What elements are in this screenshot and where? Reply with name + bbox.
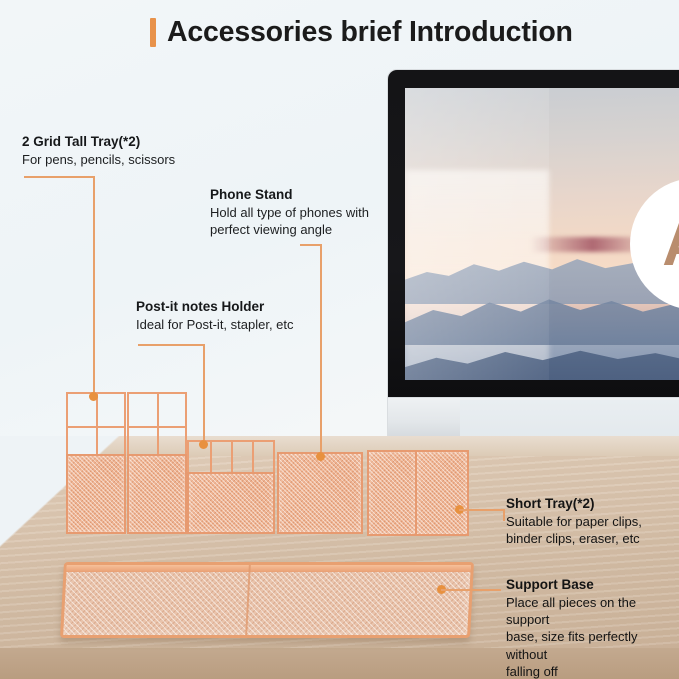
page-title: Accessories brief Introduction [150, 16, 573, 49]
product-short-tray-1 [367, 450, 417, 536]
callout-support-base-title: Support Base [506, 576, 679, 594]
tall-tray-2-mesh-body [127, 454, 187, 534]
page-title-text: Accessories brief Introduction [167, 16, 573, 49]
callout-phone-stand: Phone Stand Hold all type of phones with… [210, 186, 420, 238]
anchor-dot-tall-tray [89, 392, 98, 401]
tall-tray-2-upper-grid [127, 392, 187, 460]
leader-short-tray-v [503, 509, 505, 521]
leader-postit-h [138, 344, 204, 346]
title-accent-bar [150, 18, 156, 47]
product-support-base [60, 562, 474, 638]
callout-tall-tray-desc: For pens, pencils, scissors [22, 151, 272, 168]
brand-monogram: AU [662, 209, 679, 280]
leader-postit-v [203, 344, 205, 444]
callout-short-tray: Short Tray(*2) Suitable for paper clips,… [506, 495, 679, 547]
leader-tall-tray-v [93, 176, 95, 395]
leader-phone-stand-v [320, 244, 322, 456]
product-infographic: Accessories brief Introduction AU  [0, 0, 679, 679]
imac-monitor: AU  [388, 70, 679, 410]
product-short-tray-2 [415, 450, 469, 536]
callout-tall-tray-title: 2 Grid Tall Tray(*2) [22, 133, 272, 151]
support-base-rim [66, 565, 470, 572]
callout-short-tray-title: Short Tray(*2) [506, 495, 679, 513]
postit-holder-body [187, 472, 275, 534]
leader-support-base-h [441, 589, 501, 591]
screen-glare [405, 88, 549, 380]
callout-support-base: Support Base Place all pieces on the sup… [506, 576, 679, 679]
callout-support-base-desc-line3: falling off [506, 663, 679, 679]
tall-tray-1-upper-grid [66, 392, 126, 460]
anchor-dot-postit [199, 440, 208, 449]
tall-tray-1-mesh-body [66, 454, 126, 534]
anchor-dot-phone-stand [316, 452, 325, 461]
leader-phone-stand-h [300, 244, 322, 246]
callout-short-tray-desc-line2: binder clips, eraser, etc [506, 530, 679, 547]
callout-phone-stand-title: Phone Stand [210, 186, 420, 204]
product-tall-tray-2 [127, 392, 183, 530]
callout-short-tray-desc-line1: Suitable for paper clips, [506, 513, 679, 530]
callout-postit-holder: Post-it notes Holder Ideal for Post-it, … [136, 298, 356, 333]
product-tall-tray-1 [66, 392, 122, 530]
product-postit-holder [187, 440, 271, 530]
callout-tall-tray: 2 Grid Tall Tray(*2) For pens, pencils, … [22, 133, 272, 168]
leader-tall-tray-h [24, 176, 94, 178]
callout-postit-holder-desc: Ideal for Post-it, stapler, etc [136, 316, 356, 333]
callout-postit-holder-title: Post-it notes Holder [136, 298, 356, 316]
callout-phone-stand-desc-line1: Hold all type of phones with [210, 204, 420, 221]
callout-support-base-desc-line2: base, size fits perfectly without [506, 628, 679, 663]
callout-support-base-desc-line1: Place all pieces on the support [506, 594, 679, 629]
product-phone-stand [277, 452, 363, 534]
leader-short-tray-h [459, 509, 503, 511]
callout-phone-stand-desc-line2: perfect viewing angle [210, 221, 420, 238]
